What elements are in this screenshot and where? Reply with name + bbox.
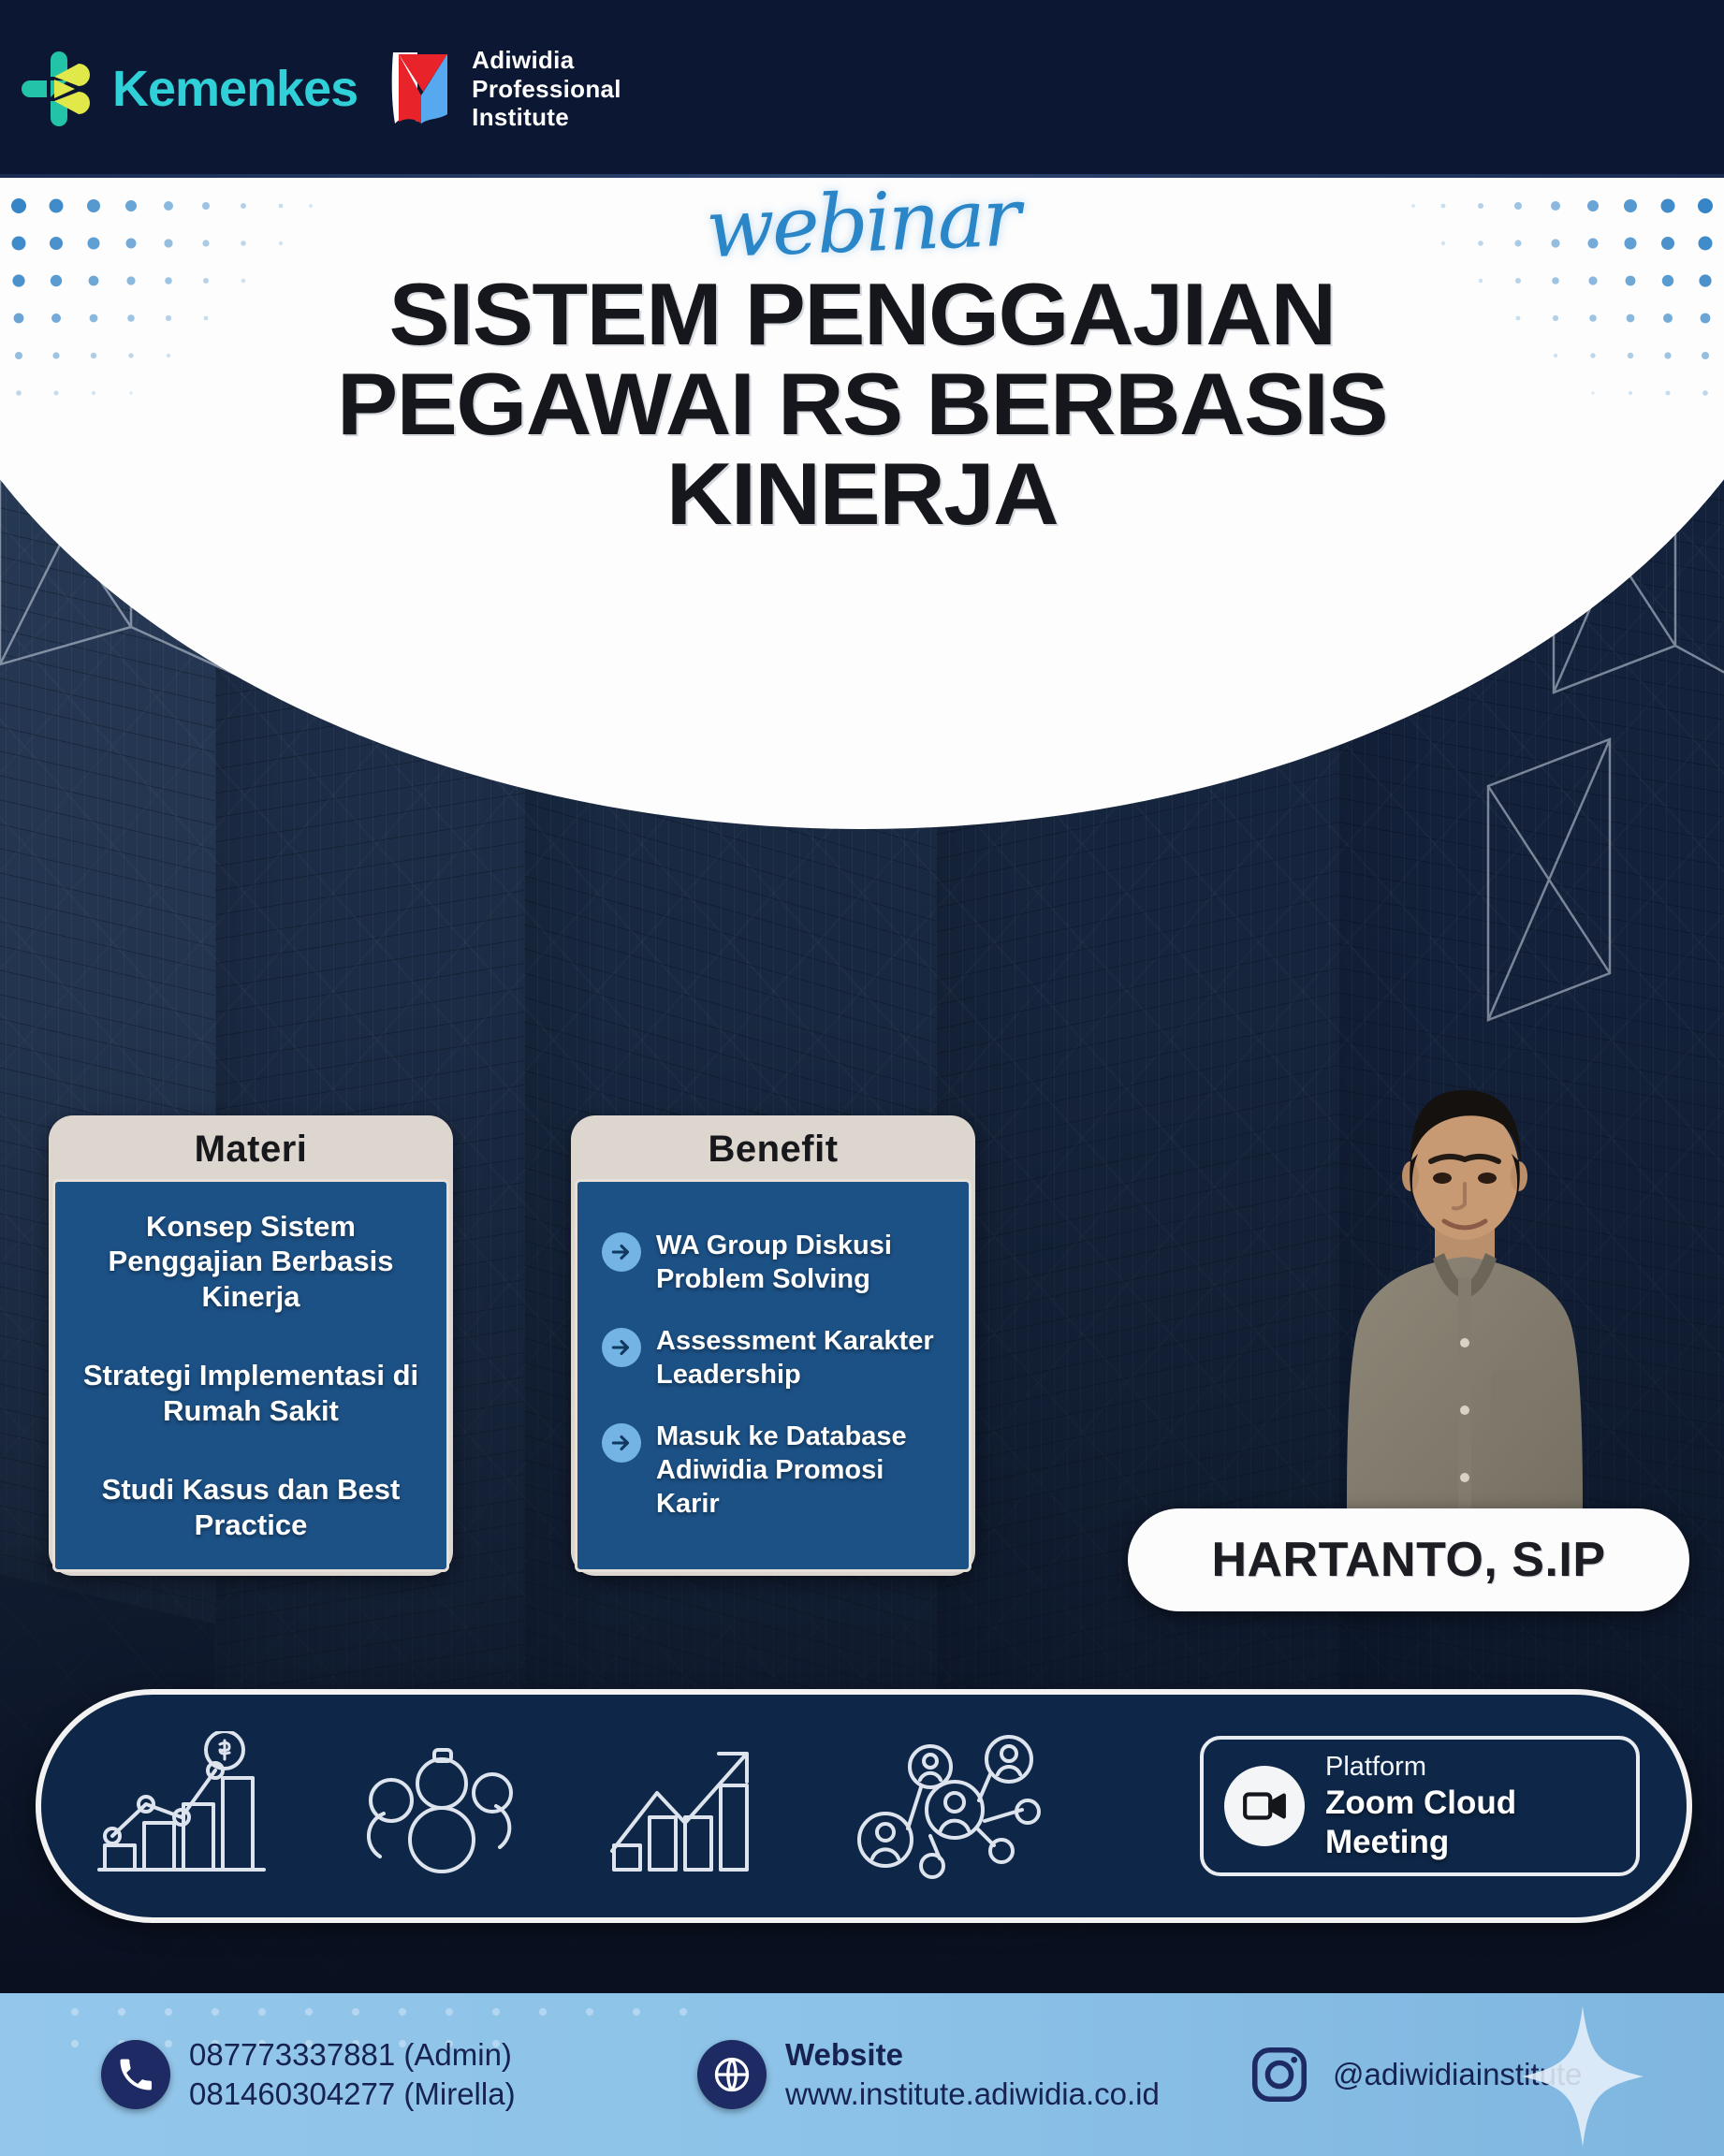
kemenkes-wordmark: Kemenkes xyxy=(112,60,358,118)
benefit-card: Benefit WA Group Diskusi Problem Solving… xyxy=(571,1115,975,1576)
contact-website[interactable]: Website www.institute.adiwidia.co.id xyxy=(697,2035,1160,2114)
adiwidia-brand: Adiwidia Professional Institute xyxy=(386,46,621,132)
arrow-right-icon xyxy=(602,1423,641,1463)
phone-text-group: 087773337881 (Admin) 081460304277 (Mirel… xyxy=(189,2035,516,2114)
phone-mirella: 081460304277 (Mirella) xyxy=(189,2075,516,2114)
phone-icon xyxy=(101,2040,170,2109)
arrow-right-icon xyxy=(602,1232,641,1272)
website-text-group: Website www.institute.adiwidia.co.id xyxy=(785,2035,1160,2114)
title-line-3: KINERJA xyxy=(0,449,1724,539)
platform-badge: Platform Zoom Cloud Meeting xyxy=(1200,1736,1640,1876)
benefit-item-label: WA Group Diskusi Problem Solving xyxy=(656,1230,944,1297)
benefit-item: Assessment Karakter Leadership xyxy=(602,1325,944,1392)
platform-value: Zoom Cloud Meeting xyxy=(1325,1784,1615,1862)
speaker-name-badge: HARTANTO, S.IP xyxy=(1128,1508,1689,1611)
materi-item: Konsep Sistem Penggajian Berbasis Kinerj… xyxy=(80,1209,422,1315)
phone-admin: 087773337881 (Admin) xyxy=(189,2035,516,2075)
adiwidia-line-2: Professional xyxy=(472,75,621,104)
platform-text-group: Platform Zoom Cloud Meeting xyxy=(1325,1750,1615,1862)
network-people-icon xyxy=(854,1731,1041,1881)
benefit-item: Masuk ke Database Adiwidia Promosi Karir xyxy=(602,1420,944,1522)
hero-title-block: webinar SISTEM PENGGAJIAN PEGAWAI RS BER… xyxy=(0,183,1724,539)
materi-card: Materi Konsep Sistem Penggajian Berbasis… xyxy=(49,1115,453,1576)
benefit-item-label: Masuk ke Database Adiwidia Promosi Karir xyxy=(656,1420,944,1522)
feature-icon-strip: Platform Zoom Cloud Meeting xyxy=(36,1689,1692,1923)
video-camera-icon xyxy=(1224,1766,1305,1846)
instagram-icon xyxy=(1245,2040,1314,2109)
adiwidia-line-3: Institute xyxy=(472,103,621,132)
website-url: www.institute.adiwidia.co.id xyxy=(785,2075,1160,2114)
contact-phone[interactable]: 087773337881 (Admin) 081460304277 (Mirel… xyxy=(101,2035,516,2114)
people-group-icon xyxy=(356,1731,524,1881)
page-title: SISTEM PENGGAJIAN PEGAWAI RS BERBASIS KI… xyxy=(0,269,1724,539)
adiwidia-line-1: Adiwidia xyxy=(472,46,621,75)
strip-icon-group xyxy=(88,1731,1200,1881)
globe-icon xyxy=(697,2040,767,2109)
speaker-photo xyxy=(1324,1062,1605,1539)
kemenkes-brand: Kemenkes xyxy=(21,51,358,127)
platform-label: Platform xyxy=(1325,1750,1615,1784)
materi-heading: Materi xyxy=(52,1119,449,1179)
materi-item: Strategi Implementasi di Rumah Sakit xyxy=(80,1358,422,1429)
website-label: Website xyxy=(785,2035,1160,2075)
adiwidia-wordmark: Adiwidia Professional Institute xyxy=(472,46,621,132)
kemenkes-logo xyxy=(21,51,97,127)
brand-header: Kemenkes Adiwidia Professional Institute xyxy=(0,0,1724,178)
adiwidia-logo xyxy=(386,49,459,129)
benefit-item-label: Assessment Karakter Leadership xyxy=(656,1325,944,1392)
bar-chart-arrow-up-icon xyxy=(605,1731,773,1881)
contact-footer: 087773337881 (Admin) 081460304277 (Mirel… xyxy=(0,1993,1724,2156)
materi-item: Studi Kasus dan Best Practice xyxy=(80,1472,422,1543)
speaker-name: HARTANTO, S.IP xyxy=(1211,1532,1605,1588)
benefit-item: WA Group Diskusi Problem Solving xyxy=(602,1230,944,1297)
webinar-poster: Kemenkes Adiwidia Professional Institute xyxy=(0,0,1724,2156)
title-line-1: SISTEM PENGGAJIAN xyxy=(0,269,1724,359)
growth-chart-money-icon xyxy=(88,1731,275,1881)
benefit-list: WA Group Diskusi Problem Solving Assessm… xyxy=(575,1179,972,1572)
arrow-right-icon xyxy=(602,1328,641,1367)
title-line-2: PEGAWAI RS BERBASIS xyxy=(0,359,1724,449)
benefit-heading: Benefit xyxy=(575,1119,972,1179)
materi-list: Konsep Sistem Penggajian Berbasis Kinerj… xyxy=(52,1179,449,1572)
sparkle-icon xyxy=(1522,2006,1644,2147)
